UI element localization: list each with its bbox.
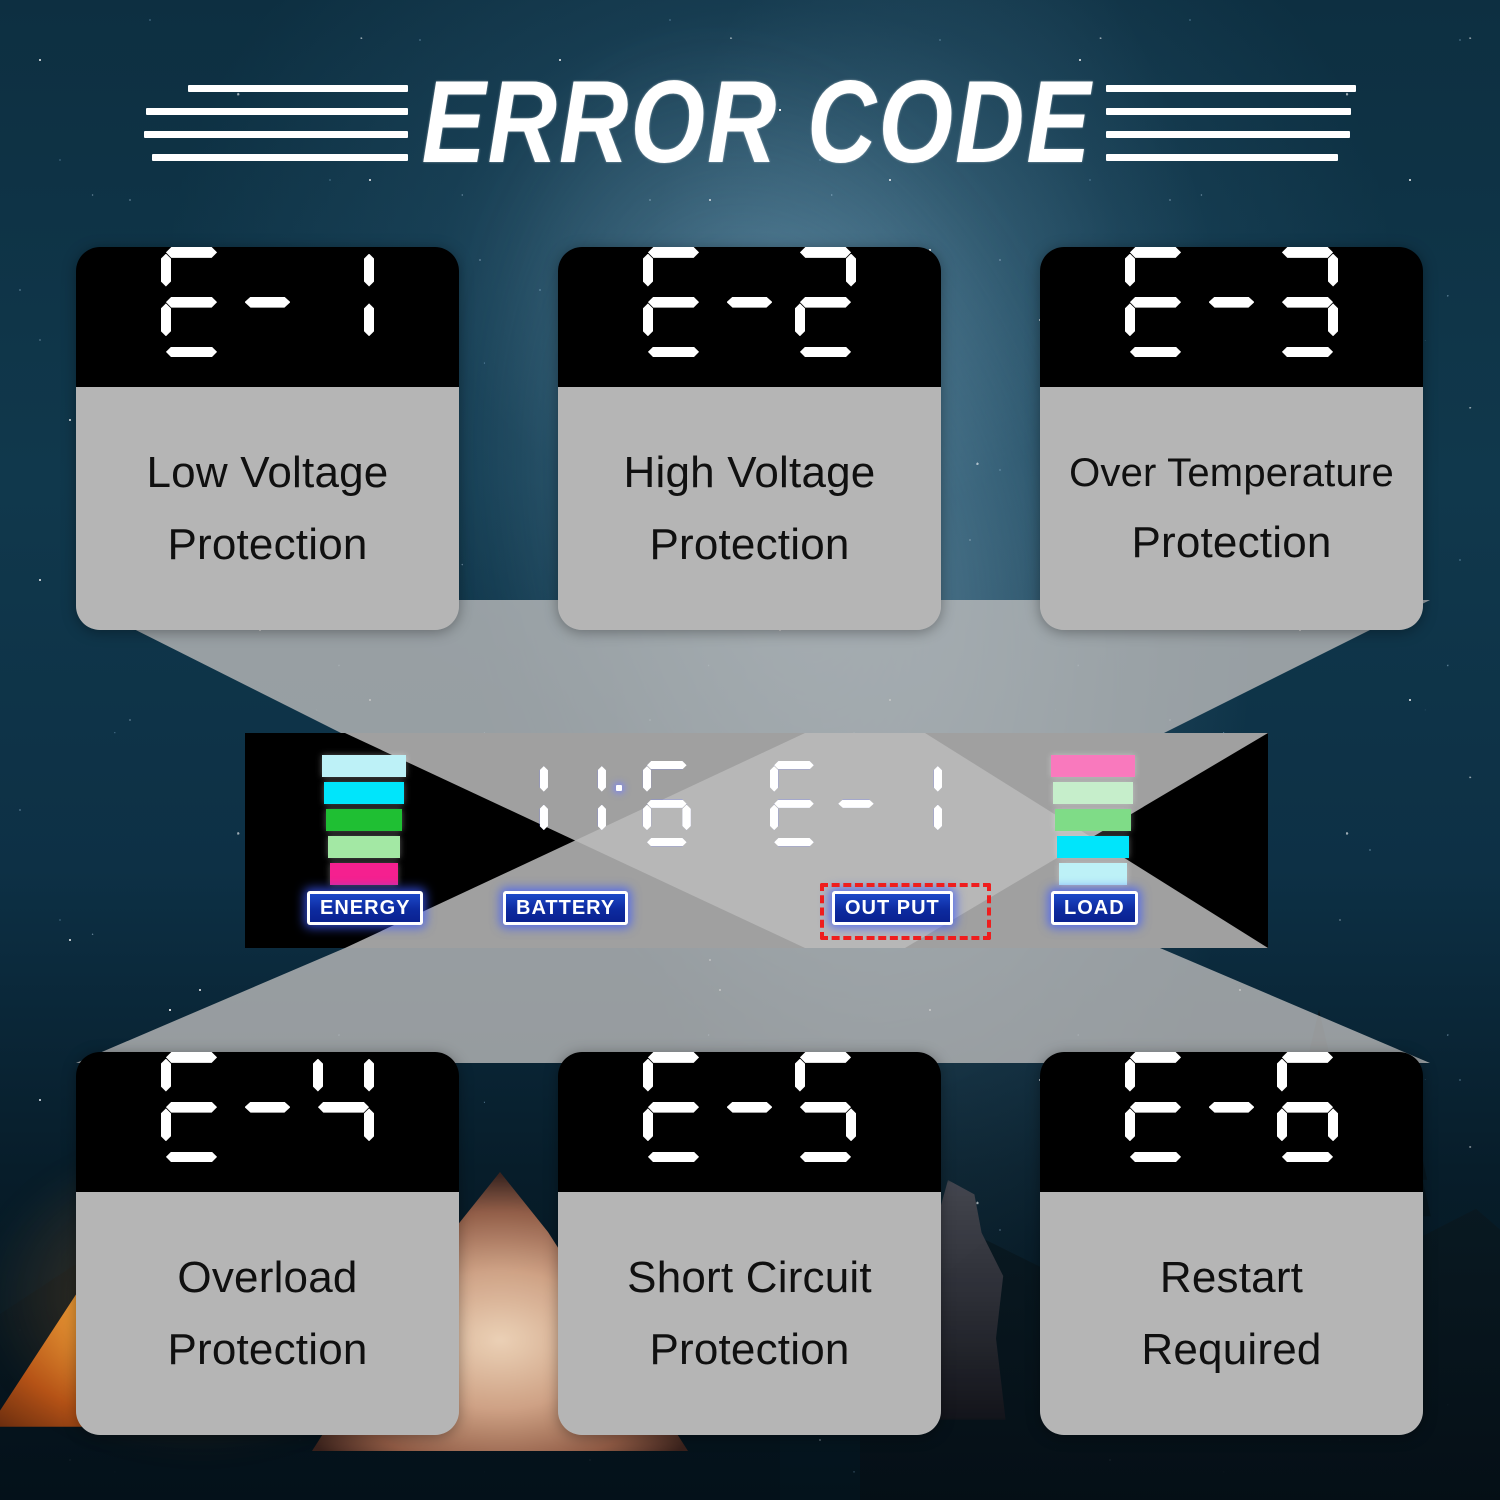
segment-c xyxy=(1328,1108,1339,1141)
segment-e xyxy=(1277,1108,1288,1141)
segment-f xyxy=(643,1059,654,1092)
segment-e xyxy=(770,805,778,831)
segment-d xyxy=(166,1152,217,1163)
segment-a xyxy=(1282,1052,1333,1063)
segment-c xyxy=(682,805,690,831)
seven-segment-digit xyxy=(161,247,223,357)
seven-segment-digit xyxy=(795,247,857,357)
seven-segment-dot xyxy=(616,785,622,791)
segment-g xyxy=(1130,1102,1181,1113)
rule-line xyxy=(1106,131,1350,138)
seven-segment-digit xyxy=(500,761,548,846)
page-header: ERROR CODE xyxy=(0,64,1500,182)
bargraph-segment xyxy=(1053,782,1133,804)
error-card-e5[interactable]: Short Circuit Protection xyxy=(558,1052,941,1435)
segment-f xyxy=(643,254,654,287)
error-card-body-e6: Restart Required xyxy=(1040,1192,1423,1435)
segment-d xyxy=(648,1152,699,1163)
segment-c xyxy=(364,303,375,336)
beam-bottom xyxy=(0,948,1500,1063)
rule-line xyxy=(188,85,408,92)
error-card-line2: Protection xyxy=(167,1328,367,1372)
seven-segment-digit xyxy=(643,247,705,357)
segment-a xyxy=(1282,247,1333,258)
error-card-line2: Protection xyxy=(649,1328,849,1372)
error-card-line2: Protection xyxy=(1131,521,1331,565)
segment-e xyxy=(643,303,654,336)
bargraph-segment xyxy=(1055,809,1131,831)
segment-e xyxy=(643,1108,654,1141)
segment-e xyxy=(161,1108,172,1141)
seven-segment-digit xyxy=(313,247,375,357)
load-bargraph xyxy=(1050,755,1135,890)
segment-c xyxy=(934,805,942,831)
segment-g xyxy=(800,1102,851,1113)
error-card-body-e1: Low Voltage Protection xyxy=(76,387,459,630)
battery-label-badge[interactable]: BATTERY xyxy=(503,891,628,925)
segment-e xyxy=(643,805,651,831)
seven-segment-digit xyxy=(832,761,880,846)
bargraph-segment xyxy=(1051,755,1135,777)
output-highlight-box xyxy=(820,883,991,940)
seven-segment-digit xyxy=(558,761,606,846)
output-error-display xyxy=(770,761,942,846)
segment-f xyxy=(643,766,651,792)
error-card-e2[interactable]: High Voltage Protection xyxy=(558,247,941,630)
segment-b xyxy=(364,254,375,287)
error-code-display-e1 xyxy=(76,247,459,387)
error-card-e3[interactable]: Over Temperature Protection xyxy=(1040,247,1423,630)
segment-b xyxy=(934,766,942,792)
segment-g xyxy=(166,1102,217,1113)
rule-line xyxy=(1106,154,1338,161)
error-card-e4[interactable]: Overload Protection xyxy=(76,1052,459,1435)
error-code-display-e2 xyxy=(558,247,941,387)
segment-e xyxy=(1125,1108,1136,1141)
seven-segment-dash xyxy=(727,297,773,308)
bargraph-segment xyxy=(324,782,404,804)
segment-c xyxy=(364,1108,375,1141)
segment-d xyxy=(1282,347,1333,358)
segment-c xyxy=(598,805,606,831)
error-card-line1: Short Circuit xyxy=(627,1256,872,1300)
segment-c xyxy=(846,1108,857,1141)
seven-segment-digit xyxy=(643,1052,705,1162)
rule-line xyxy=(1106,108,1351,115)
segment-d xyxy=(774,838,814,846)
error-card-body-e4: Overload Protection xyxy=(76,1192,459,1435)
seven-segment-digit xyxy=(313,1052,375,1162)
segment-f xyxy=(770,766,778,792)
bargraph-segment xyxy=(326,809,402,831)
segment-g xyxy=(647,800,687,808)
segment-g xyxy=(800,297,851,308)
error-card-e6[interactable]: Restart Required xyxy=(1040,1052,1423,1435)
seven-segment-digit xyxy=(1277,1052,1339,1162)
segment-d xyxy=(647,838,687,846)
seven-segment-digit xyxy=(237,1052,299,1162)
segment-f xyxy=(1125,254,1136,287)
bargraph-segment xyxy=(322,755,406,777)
error-card-e1[interactable]: Low Voltage Protection xyxy=(76,247,459,630)
segment-g xyxy=(1130,297,1181,308)
rule-line xyxy=(152,154,408,161)
lcd-contents: ENERGY BATTERY OUT PUT LOAD xyxy=(245,733,1268,948)
error-card-body-e5: Short Circuit Protection xyxy=(558,1192,941,1435)
lcd-display-panel[interactable]: ENERGY BATTERY OUT PUT LOAD xyxy=(245,733,1268,948)
seven-segment-digit xyxy=(643,761,691,846)
seven-segment-digit xyxy=(795,1052,857,1162)
segment-b xyxy=(846,254,857,287)
segment-d xyxy=(1130,1152,1181,1163)
error-card-line2: Protection xyxy=(167,523,367,567)
rule-line xyxy=(144,131,408,138)
segment-d xyxy=(1282,1152,1333,1163)
error-code-display-e4 xyxy=(76,1052,459,1192)
segment-g xyxy=(166,297,217,308)
error-card-line1: High Voltage xyxy=(624,451,876,495)
bargraph-segment xyxy=(1057,836,1129,858)
seven-segment-dash xyxy=(245,297,291,308)
segment-c xyxy=(540,805,548,831)
error-code-display-e5 xyxy=(558,1052,941,1192)
error-card-line1: Low Voltage xyxy=(147,451,389,495)
seven-segment-dash xyxy=(727,1102,773,1113)
seven-segment-digit xyxy=(894,761,942,846)
error-card-line1: Restart xyxy=(1160,1256,1303,1300)
segment-a xyxy=(800,247,851,258)
segment-a xyxy=(648,1052,699,1063)
segment-b xyxy=(540,766,548,792)
seven-segment-digit xyxy=(1277,247,1339,357)
segment-f xyxy=(795,1059,806,1092)
segment-a xyxy=(800,1052,851,1063)
battery-voltage-display xyxy=(500,761,691,846)
segment-g xyxy=(1282,297,1333,308)
segment-a xyxy=(1130,1052,1181,1063)
error-card-line2: Required xyxy=(1141,1328,1321,1372)
segment-d xyxy=(648,347,699,358)
seven-segment-digit xyxy=(1125,1052,1187,1162)
segment-d xyxy=(166,347,217,358)
segment-a xyxy=(647,761,687,769)
segment-g xyxy=(318,1102,369,1113)
segment-d xyxy=(800,1152,851,1163)
segment-f xyxy=(161,1059,172,1092)
segment-f xyxy=(161,254,172,287)
seven-segment-digit xyxy=(1201,1052,1263,1162)
segment-b xyxy=(1328,254,1339,287)
segment-g xyxy=(774,800,814,808)
header-rules-right xyxy=(1106,85,1356,161)
seven-segment-dash xyxy=(1209,297,1255,308)
segment-b xyxy=(364,1059,375,1092)
seven-segment-digit xyxy=(1201,247,1263,357)
segment-e xyxy=(161,303,172,336)
seven-segment-digit xyxy=(770,761,818,846)
segment-e xyxy=(795,303,806,336)
bargraph-segment xyxy=(1059,863,1127,885)
bargraph-segment xyxy=(328,836,400,858)
segment-f xyxy=(313,1059,324,1092)
seven-segment-digit xyxy=(237,247,299,357)
segment-g xyxy=(648,297,699,308)
error-card-line1: Over Temperature xyxy=(1069,453,1394,493)
seven-segment-dash xyxy=(1209,1102,1255,1113)
segment-f xyxy=(1277,1059,1288,1092)
rule-line xyxy=(1106,85,1356,92)
seven-segment-digit xyxy=(161,1052,223,1162)
error-code-display-e6 xyxy=(1040,1052,1423,1192)
seven-segment-dash xyxy=(245,1102,291,1113)
segment-e xyxy=(1125,303,1136,336)
segment-a xyxy=(1130,247,1181,258)
segment-d xyxy=(1130,347,1181,358)
error-card-line2: Protection xyxy=(649,523,849,567)
seven-segment-digit xyxy=(1125,247,1187,357)
rule-line xyxy=(146,108,408,115)
header-rules-left xyxy=(144,85,408,161)
error-code-display-e3 xyxy=(1040,247,1423,387)
page-title: ERROR CODE xyxy=(422,64,1093,181)
segment-b xyxy=(598,766,606,792)
segment-a xyxy=(166,247,217,258)
seven-segment-digit xyxy=(719,1052,781,1162)
error-card-line1: Overload xyxy=(177,1256,357,1300)
segment-g xyxy=(1282,1102,1333,1113)
error-card-body-e3: Over Temperature Protection xyxy=(1040,387,1423,630)
segment-a xyxy=(774,761,814,769)
error-card-body-e2: High Voltage Protection xyxy=(558,387,941,630)
load-label-badge[interactable]: LOAD xyxy=(1051,891,1138,925)
segment-c xyxy=(1328,303,1339,336)
segment-a xyxy=(166,1052,217,1063)
segment-d xyxy=(800,347,851,358)
seven-segment-dash xyxy=(838,800,874,808)
seven-segment-digit xyxy=(616,761,633,791)
segment-a xyxy=(648,247,699,258)
energy-label-badge[interactable]: ENERGY xyxy=(307,891,423,925)
seven-segment-digit xyxy=(719,247,781,357)
bargraph-segment xyxy=(330,863,398,885)
segment-f xyxy=(1125,1059,1136,1092)
segment-g xyxy=(648,1102,699,1113)
energy-bargraph xyxy=(321,755,406,890)
